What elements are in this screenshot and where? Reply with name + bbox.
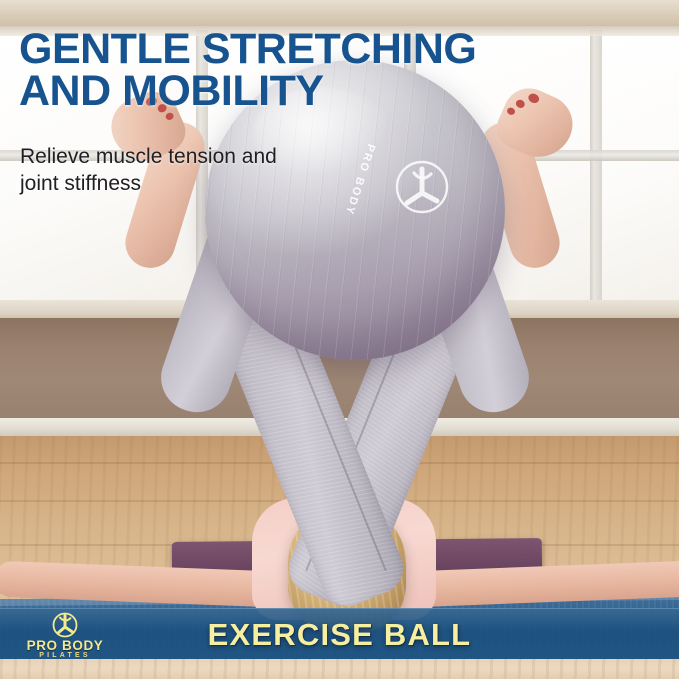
headline-line-1: GENTLE STRETCHING: [19, 25, 476, 73]
subtitle-line-2: joint stiffness: [20, 172, 141, 195]
subtitle-line-1: Relieve muscle tension and: [20, 145, 277, 168]
window-header-frame: [0, 0, 679, 26]
brand-sub-label: PILATES: [14, 652, 116, 659]
ball-probody-logo-icon: [374, 143, 460, 227]
bottom-banner: EXERCISE BALL PRO BODY PILATES: [0, 608, 679, 661]
page-title: GENTLE STRETCHING AND MOBILITY: [19, 28, 539, 112]
window-mullion-vertical: [590, 30, 602, 322]
probody-circle-logo-icon: [38, 612, 92, 640]
window-pane: [602, 36, 679, 300]
bottom-floor-strip: [0, 659, 679, 679]
product-marketing-image: PRO BODY GENTLE STRETCHING AND MOBILITY …: [0, 0, 679, 679]
subtitle: Relieve muscle tension and joint stiffne…: [20, 144, 380, 198]
brand-name-label: PRO BODY: [14, 638, 116, 653]
brand-logo: PRO BODY PILATES: [14, 612, 116, 660]
headline-line-2: AND MOBILITY: [19, 70, 539, 112]
